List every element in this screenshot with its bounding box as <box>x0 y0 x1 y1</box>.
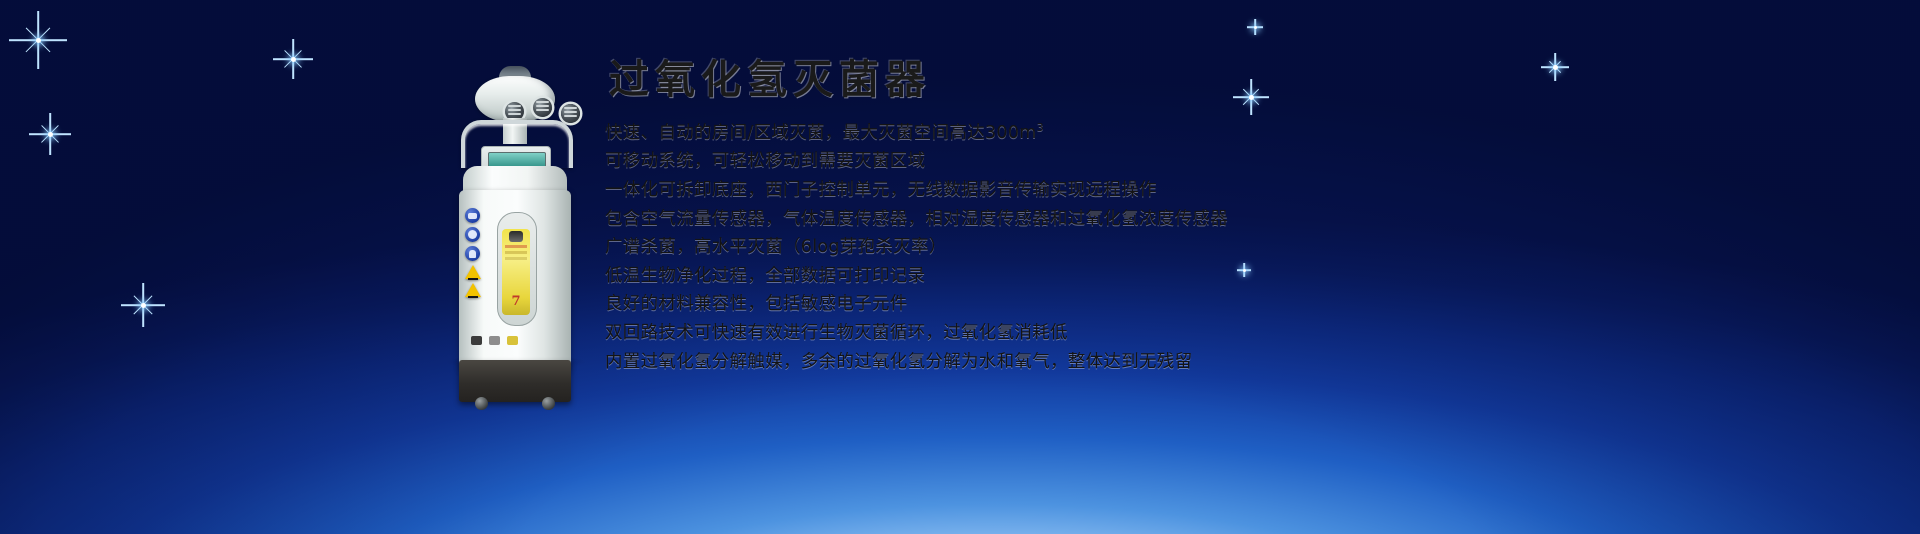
promo-banner: 7 过氧化氢灭菌器 快速、自动的房间/区域灭菌，最大灭菌空间高达300m3 可移… <box>0 0 1920 534</box>
safety-label-strip <box>465 208 481 301</box>
warning-triangle-icon <box>465 265 481 279</box>
feature-list: 快速、自动的房间/区域灭菌，最大灭菌空间高达300m3 可移动系统，可轻松移动到… <box>605 114 1305 376</box>
list-item: 包含空气流量传感器，气体温度传感器，相对湿度传感器和过氧化氢浓度传感器 <box>605 205 1305 234</box>
eye-protection-icon <box>465 208 480 223</box>
respirator-icon <box>465 227 480 242</box>
list-item: 一体化可拆卸底座，西门子控制单元，无线数据影音传输实现远程操作 <box>605 176 1305 205</box>
sparkle-icon <box>1540 52 1570 82</box>
list-item: 良好的材料兼容性，包括敏感电子元件 <box>605 290 1305 319</box>
superscript-3: 3 <box>1037 121 1044 134</box>
cartridge-window: 7 <box>497 212 537 326</box>
port-row <box>471 334 525 348</box>
nozzle-port-icon <box>561 104 580 123</box>
list-item: 内置过氧化氢分解触媒，多余的过氧化氢分解为水和氧气，整体达到无残留 <box>605 348 1305 377</box>
list-item: 广谱杀菌，高水平灭菌（6log芽孢杀灭率） <box>605 233 1305 262</box>
sparkle-icon <box>28 112 72 156</box>
list-item: 可移动系统，可轻松移动到需要灭菌区域 <box>605 147 1305 176</box>
cartridge-cap <box>509 231 523 242</box>
gloves-icon <box>465 246 480 261</box>
nozzle-port-icon <box>533 98 552 117</box>
sparkle-icon <box>8 10 68 70</box>
product-image-sterilizer: 7 <box>441 62 591 372</box>
caster-wheel-icon <box>542 397 555 410</box>
caster-wheel-icon <box>475 397 488 410</box>
sparkle-icon <box>272 38 314 80</box>
warning-triangle-icon <box>465 283 481 297</box>
nozzle-head <box>475 76 555 122</box>
list-item: 低温生物净化过程，全部数据可打印记录 <box>605 262 1305 291</box>
peroxide-cartridge: 7 <box>502 229 530 315</box>
detachable-base <box>459 360 571 402</box>
cartridge-number: 7 <box>502 294 530 309</box>
list-item: 双回路技术可快速有效进行生物灭菌循环，过氧化氢消耗低 <box>605 319 1305 348</box>
sparkle-icon <box>120 282 166 328</box>
list-item: 快速、自动的房间/区域灭菌，最大灭菌空间高达300m3 <box>605 114 1305 147</box>
cartridge-label <box>505 245 527 248</box>
sparkle-icon <box>1246 18 1264 36</box>
copy-block: 过氧化氢灭菌器 快速、自动的房间/区域灭菌，最大灭菌空间高达300m3 可移动系… <box>605 60 1305 376</box>
feature-text: 快速、自动的房间/区域灭菌，最大灭菌空间高达300m <box>605 123 1037 143</box>
page-title: 过氧化氢灭菌器 <box>609 60 1305 100</box>
